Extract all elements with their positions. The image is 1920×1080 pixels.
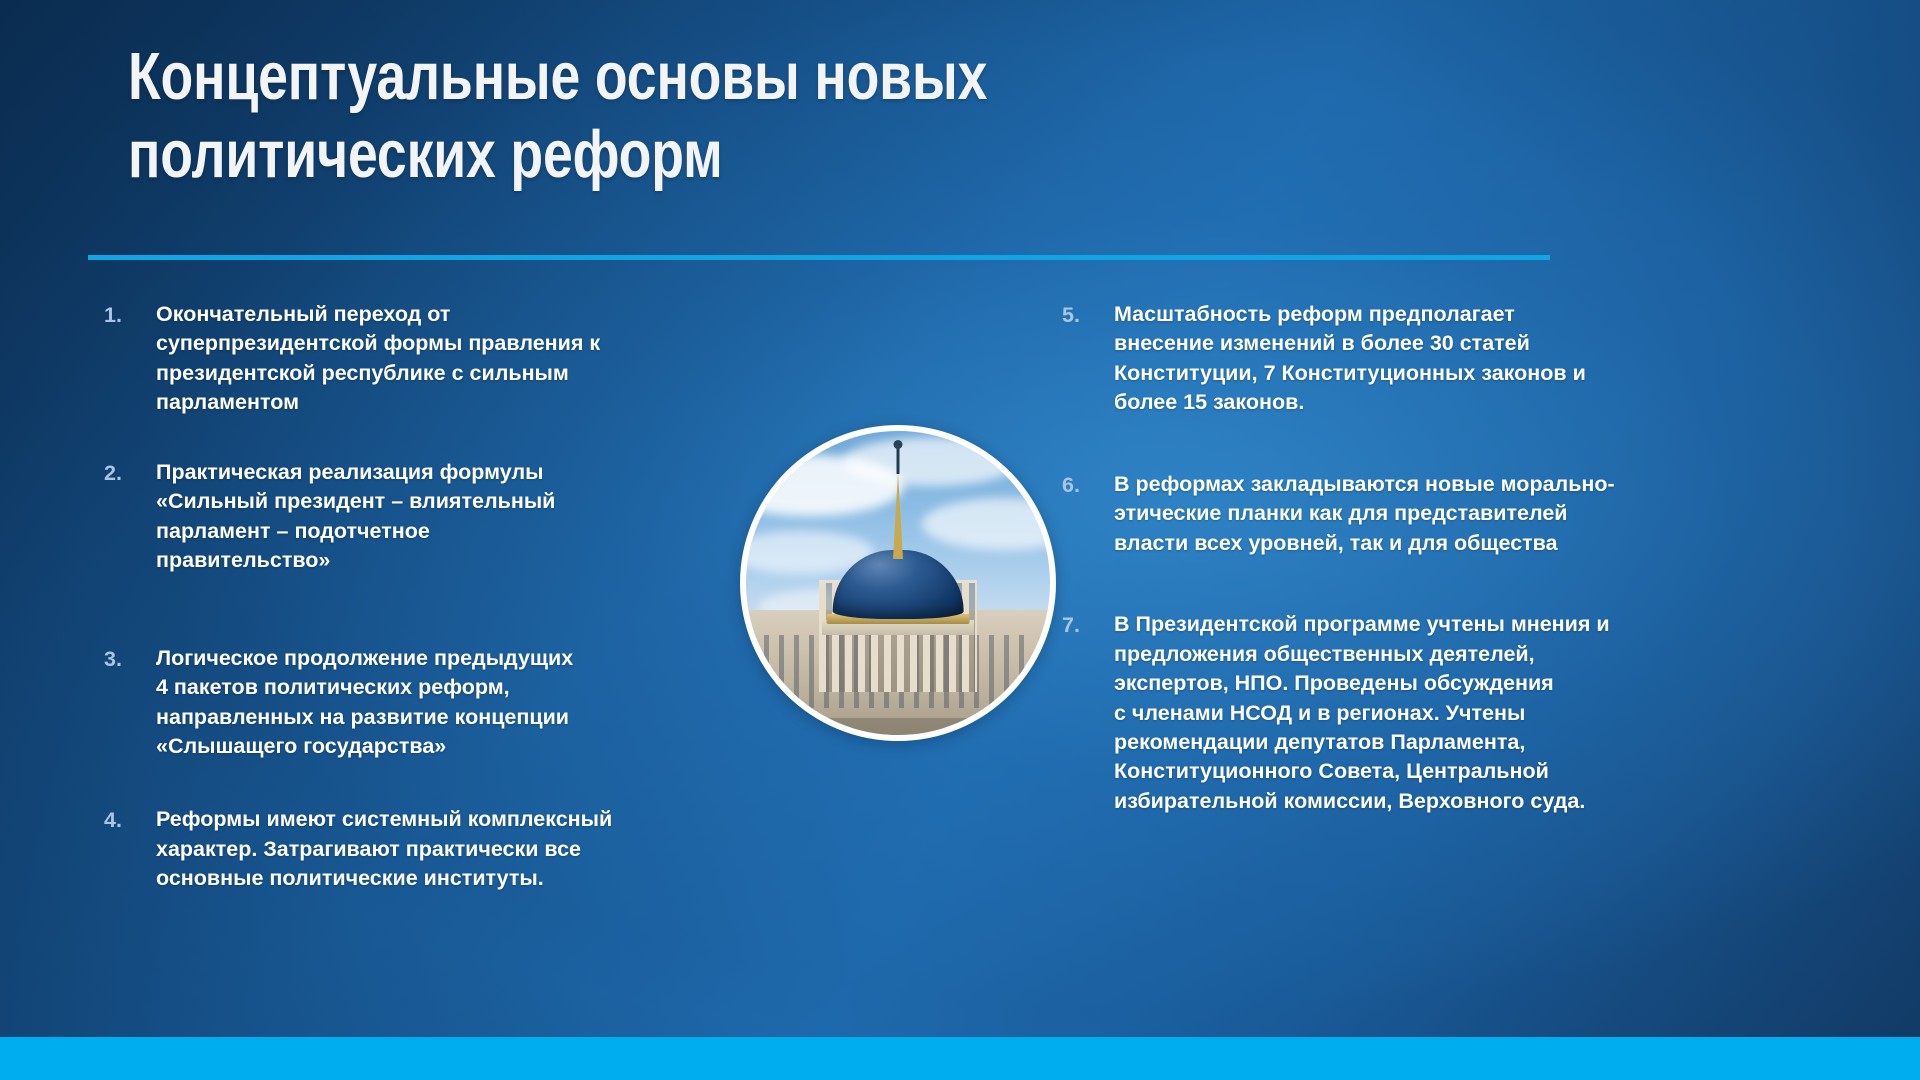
list-item-number: 5.: [1062, 300, 1114, 330]
bullet-column-right: 5. Масштабность реформ предполагает внес…: [1062, 300, 1762, 816]
footer-accent-bar: [0, 1037, 1920, 1080]
list-item: 1. Окончательный переход от суперпрезиде…: [104, 300, 744, 418]
list-item-text: В Президентской программе учтены мнения …: [1114, 610, 1762, 816]
presentation-slide: Концептуальные основы новых политических…: [0, 0, 1920, 1080]
list-item-text: Логическое продолжение предыдущих 4 паке…: [156, 644, 744, 762]
list-item: 7. В Президентской программе учтены мнен…: [1062, 610, 1762, 816]
palace-spire: [893, 473, 903, 559]
list-item-number: 4.: [104, 805, 156, 835]
palace-spire-orb: [894, 440, 903, 449]
list-item: 5. Масштабность реформ предполагает внес…: [1062, 300, 1762, 418]
list-item-number: 6.: [1062, 470, 1114, 500]
list-item-number: 2.: [104, 458, 156, 488]
list-item-text: В реформах закладываются новые морально-…: [1114, 470, 1762, 558]
palace-spire-tip: [897, 448, 900, 474]
cloud-shape: [922, 498, 1050, 550]
list-item-text: Практическая реализация формулы «Сильный…: [156, 458, 744, 576]
title-divider-rule: [88, 255, 1550, 260]
list-item-number: 3.: [104, 644, 156, 674]
circular-photo-frame: [740, 425, 1056, 741]
cloud-shape: [843, 437, 1019, 486]
slide-title: Концептуальные основы новых политических…: [128, 38, 1264, 193]
list-item-number: 7.: [1062, 610, 1114, 640]
akorda-presidential-palace-photo: [746, 431, 1050, 735]
list-item-text: Масштабность реформ предполагает внесени…: [1114, 300, 1762, 418]
list-item: 6. В реформах закладываются новые мораль…: [1062, 470, 1762, 558]
list-item: 2. Практическая реализация формулы «Силь…: [104, 458, 744, 576]
list-item: 4. Реформы имеют системный комплексный х…: [104, 805, 744, 893]
list-item-text: Окончательный переход от суперпрезидентс…: [156, 300, 744, 418]
list-item-text: Реформы имеют системный комплексный хара…: [156, 805, 744, 893]
list-item: 3. Логическое продолжение предыдущих 4 п…: [104, 644, 744, 762]
list-item-number: 1.: [104, 300, 156, 330]
bullet-column-left: 1. Окончательный переход от суперпрезиде…: [104, 300, 744, 894]
